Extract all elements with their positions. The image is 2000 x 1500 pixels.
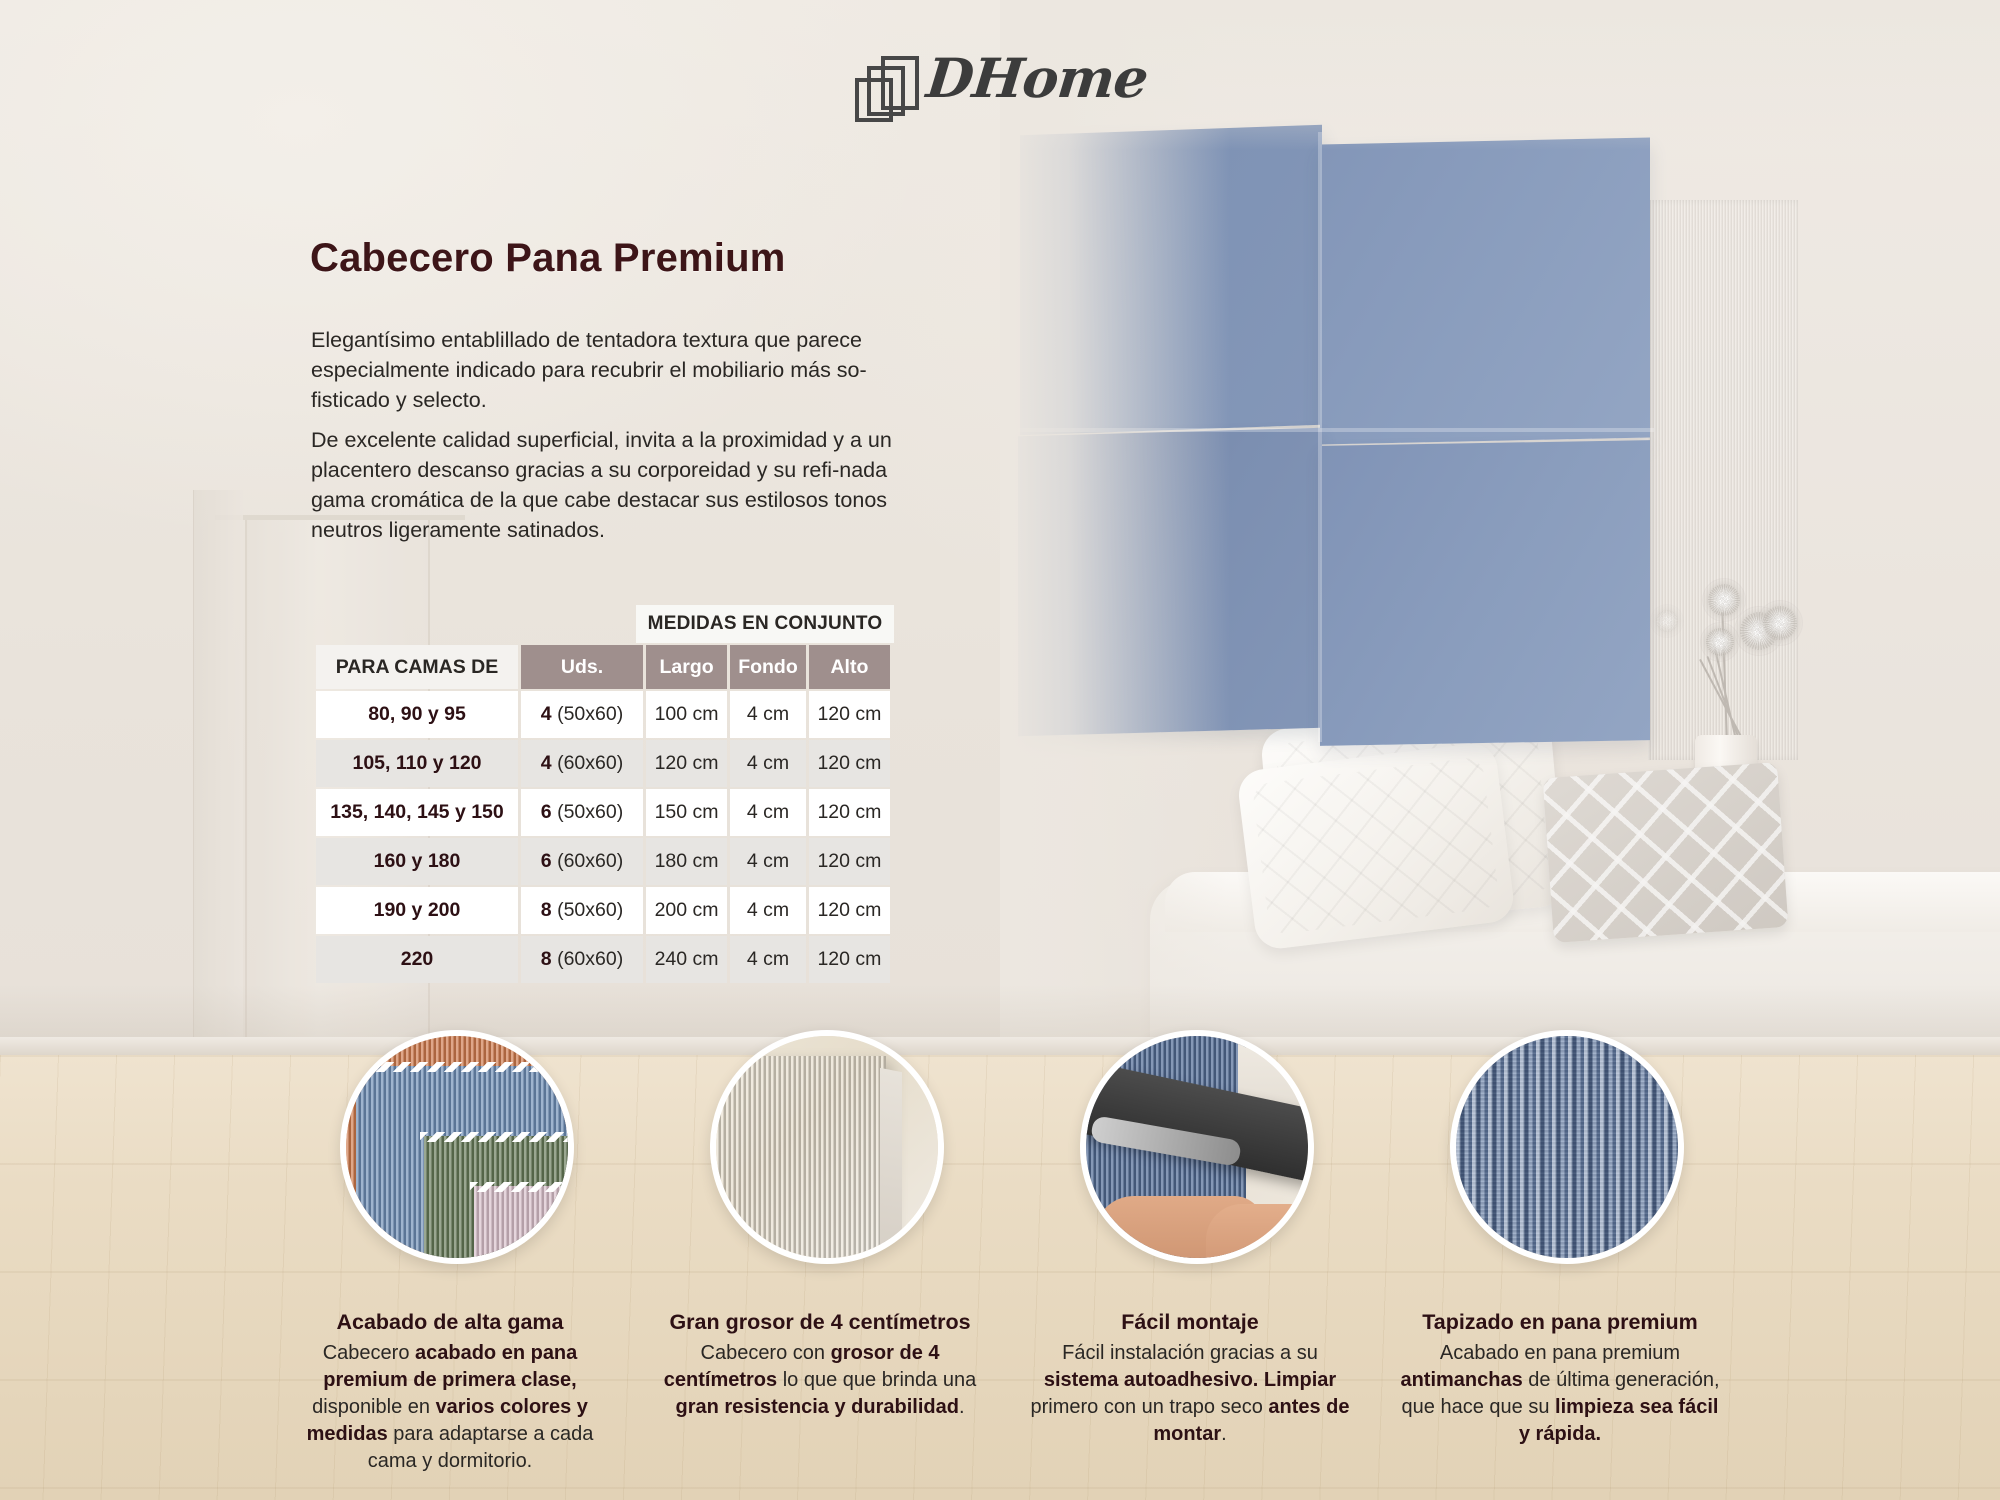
feature-caption-2: Gran grosor de 4 centímetros Cabecero co… [660, 1310, 980, 1421]
feature-caption-1: Acabado de alta gama Cabecero acabado en… [290, 1310, 610, 1475]
table-row: 160 y 1806 (60x60)180 cm4 cm120 cm [316, 838, 890, 885]
feature-image-2 [710, 1030, 944, 1264]
brand-logo[interactable]: DHome [855, 48, 1145, 126]
col-header-depth: Fondo [730, 645, 806, 689]
cell-height: 120 cm [809, 740, 890, 787]
table-row: 2208 (60x60)240 cm4 cm120 cm [316, 936, 890, 983]
cell-length: 120 cm [646, 740, 727, 787]
col-header-units: Uds. [521, 645, 643, 689]
feature-1-heading: Acabado de alta gama [290, 1310, 610, 1335]
cell-beds: 190 y 200 [316, 887, 518, 934]
feature-2-heading: Gran grosor de 4 centímetros [660, 1310, 980, 1335]
cushion-grey-pattern [1543, 762, 1789, 943]
page-title: Cabecero Pana Premium [310, 236, 786, 281]
feature-1-body: Cabecero acabado en pana premium de prim… [290, 1340, 610, 1475]
feature-3-heading: Fácil montaje [1030, 1310, 1350, 1335]
headboard-panel-bottom-right [1320, 440, 1650, 746]
cell-beds: 105, 110 y 120 [316, 740, 518, 787]
feature-3-body: Fácil instalación gracias a su sistema a… [1030, 1340, 1350, 1448]
cell-beds: 135, 140, 145 y 150 [316, 789, 518, 836]
photo-top-fade [1000, 0, 2000, 150]
cell-depth: 4 cm [730, 691, 806, 738]
cell-length: 240 cm [646, 936, 727, 983]
table-header-row: PARA CAMAS DE Uds. Largo Fondo Alto [316, 645, 890, 689]
cell-height: 120 cm [809, 887, 890, 934]
hand-installing-panel-photo [1086, 1036, 1308, 1258]
col-header-height: Alto [809, 645, 890, 689]
brand-name: DHome [924, 46, 1151, 110]
product-description-1: Elegantísimo entablillado de tentadora t… [311, 325, 926, 415]
table-row: 80, 90 y 954 (50x60)100 cm4 cm120 cm [316, 691, 890, 738]
cell-units: 4 (50x60) [521, 691, 643, 738]
cell-units: 6 (50x60) [521, 789, 643, 836]
col-header-beds: PARA CAMAS DE [316, 645, 518, 689]
cell-units: 6 (60x60) [521, 838, 643, 885]
infographic-canvas: DHome Cabecero Pana Premium Elegantísimo… [0, 0, 2000, 1500]
fabric-swatches-photo [346, 1036, 568, 1258]
headboard-seam-vertical [1318, 132, 1322, 742]
col-header-length: Largo [646, 645, 727, 689]
cell-beds: 160 y 180 [316, 838, 518, 885]
corduroy-closeup-photo [1456, 1036, 1678, 1258]
cell-depth: 4 cm [730, 838, 806, 885]
cell-units: 4 (60x60) [521, 740, 643, 787]
table-group-header: MEDIDAS EN CONJUNTO [636, 605, 894, 643]
cell-depth: 4 cm [730, 789, 806, 836]
cell-height: 120 cm [809, 691, 890, 738]
baseboard [0, 1037, 2000, 1055]
feature-image-3 [1080, 1030, 1314, 1264]
feature-image-4 [1450, 1030, 1684, 1264]
cell-beds: 80, 90 y 95 [316, 691, 518, 738]
feature-image-1 [340, 1030, 574, 1264]
feature-4-heading: Tapizado en pana premium [1400, 1310, 1720, 1335]
cell-height: 120 cm [809, 838, 890, 885]
table-row: 105, 110 y 1204 (60x60)120 cm4 cm120 cm [316, 740, 890, 787]
table-row: 135, 140, 145 y 1506 (50x60)150 cm4 cm12… [316, 789, 890, 836]
table-body: 80, 90 y 954 (50x60)100 cm4 cm120 cm105,… [316, 691, 890, 983]
pillow-white-front [1236, 741, 1516, 951]
cell-units: 8 (50x60) [521, 887, 643, 934]
headboard-panel-top-right [1320, 138, 1650, 445]
overlapping-rectangles-icon [855, 56, 917, 118]
cell-units: 8 (60x60) [521, 936, 643, 983]
cell-height: 120 cm [809, 789, 890, 836]
cell-depth: 4 cm [730, 936, 806, 983]
cell-length: 180 cm [646, 838, 727, 885]
cell-beds: 220 [316, 936, 518, 983]
table-row: 190 y 2008 (50x60)200 cm4 cm120 cm [316, 887, 890, 934]
cell-length: 100 cm [646, 691, 727, 738]
cell-depth: 4 cm [730, 740, 806, 787]
cell-length: 200 cm [646, 887, 727, 934]
feature-caption-4: Tapizado en pana premium Acabado en pana… [1400, 1310, 1720, 1448]
panel-thickness-photo [716, 1036, 938, 1258]
cell-length: 150 cm [646, 789, 727, 836]
feature-caption-3: Fácil montaje Fácil instalación gracias … [1030, 1310, 1350, 1448]
feature-4-body: Acabado en pana premium antimanchas de ú… [1400, 1340, 1720, 1448]
cell-depth: 4 cm [730, 887, 806, 934]
product-description-2: De excelente calidad superficial, invita… [311, 425, 926, 545]
cell-height: 120 cm [809, 936, 890, 983]
feature-2-body: Cabecero con grosor de 4 centímetros lo … [660, 1340, 980, 1421]
size-table: MEDIDAS EN CONJUNTO PARA CAMAS DE Uds. L… [313, 605, 893, 985]
